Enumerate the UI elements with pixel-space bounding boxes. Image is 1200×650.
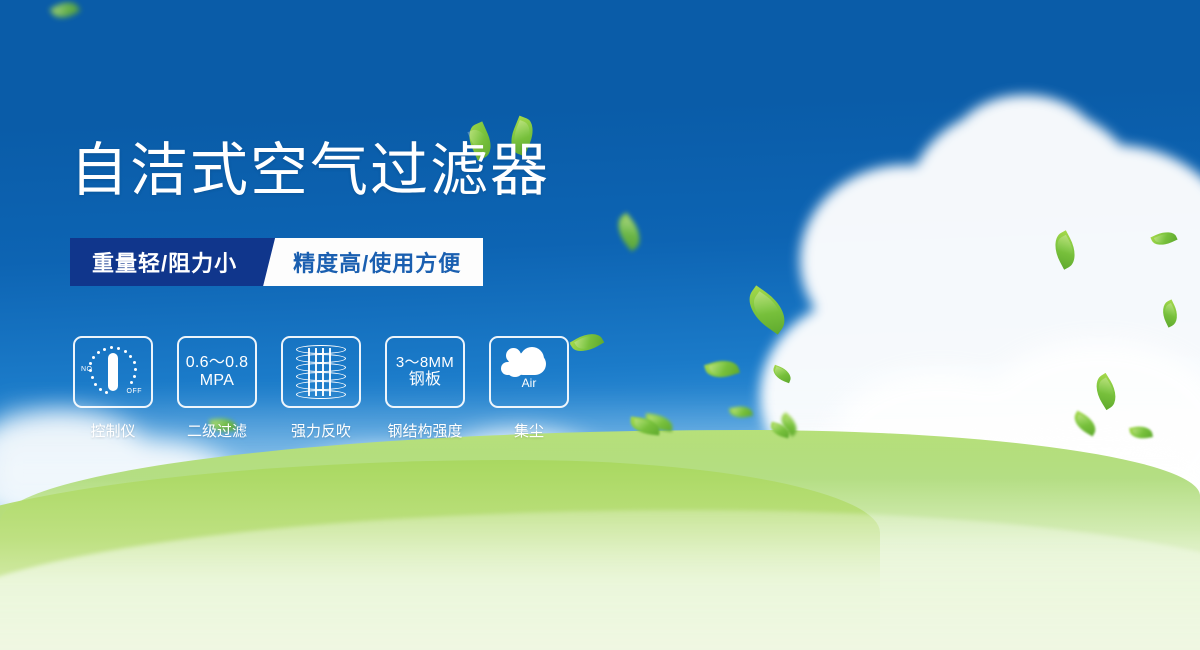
subtitle-bar: 重量轻/阻力小 精度高/使用方便: [70, 238, 483, 286]
steel-plate-text: 钢板: [409, 371, 442, 389]
feature-label-pressure: 二级过滤: [187, 420, 247, 441]
feature-item-pressure[interactable]: 0.6～0.8 MPA 二级过滤: [176, 336, 258, 441]
feature-item-control[interactable]: NO OFF 控制仪: [72, 336, 154, 441]
feature-label-steel: 钢结构强度: [387, 420, 462, 441]
feature-item-blowback[interactable]: 强力反吹: [280, 336, 362, 441]
feature-item-dust[interactable]: Air 集尘: [488, 336, 570, 441]
feature-item-steel[interactable]: 3～8MM 钢板 钢结构强度: [384, 336, 466, 441]
feature-label-dust: 集尘: [514, 420, 544, 441]
feature-label-blowback: 强力反吹: [291, 420, 351, 441]
feature-box-pressure: 0.6～0.8 MPA: [177, 336, 257, 408]
gauge-dial-icon: NO OFF: [82, 344, 144, 400]
leaf-icon: [570, 328, 604, 358]
page-title: 自洁式空气过滤器: [70, 142, 550, 200]
pressure-value-text: 0.6～0.8: [186, 354, 249, 372]
leaf-icon: [611, 212, 648, 251]
pressure-unit-text: MPA: [200, 372, 234, 390]
filter-stack-icon: [296, 345, 346, 399]
cloud-air-icon: Air: [500, 347, 558, 397]
feature-box-blowback: [281, 336, 361, 408]
gauge-off-label: OFF: [127, 388, 143, 396]
feature-box-control: NO OFF: [73, 336, 153, 408]
product-banner: 自洁式空气过滤器 重量轻/阻力小 精度高/使用方便: [0, 0, 1200, 650]
feature-list: NO OFF 控制仪 0.6～0.8 MPA 二级过滤: [72, 336, 570, 441]
leaf-icon: [704, 355, 740, 382]
feature-box-steel: 3～8MM 钢板: [385, 336, 465, 408]
feature-label-control: 控制仪: [90, 420, 135, 441]
subtitle-diagonal-divider: [263, 238, 289, 286]
air-label: Air: [500, 377, 558, 390]
steel-thickness-text: 3～8MM: [396, 355, 454, 372]
subtitle-left-segment: 重量轻/阻力小: [70, 238, 263, 286]
leaf-icon: [50, 0, 80, 23]
feature-box-dust: Air: [489, 336, 569, 408]
gauge-no-label: NO: [81, 366, 93, 374]
subtitle-right-segment: 精度高/使用方便: [289, 238, 483, 286]
